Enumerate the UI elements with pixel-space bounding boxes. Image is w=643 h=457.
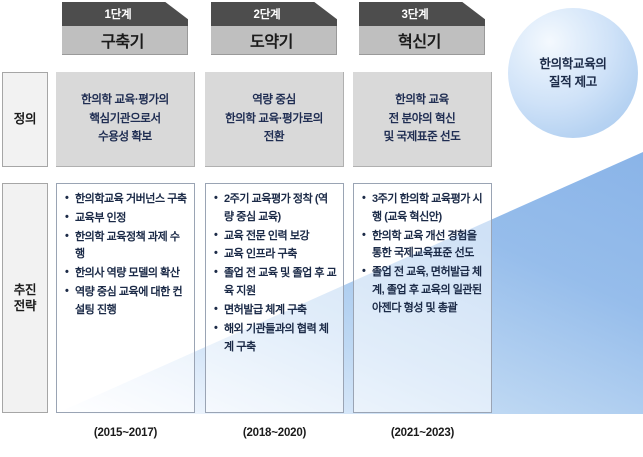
strategy-item: 한의학 교육 개선 경험을 통한 국제교육표준 선도: [361, 228, 485, 264]
strategy-box-3: 3주기 한의학 교육평가 시행 (교육 혁신안)한의학 교육 개선 경험을 통한…: [353, 183, 492, 413]
phase-header-3[interactable]: 3단계 혁신기: [359, 2, 485, 54]
phase-stage-label-1: 1단계: [105, 6, 132, 22]
phase-stage-band-1: 1단계: [62, 2, 188, 26]
row-label-definition-text: 정의: [14, 111, 36, 127]
definition-text-3: 한의학 교육 전 분야의 혁신 및 국제표준 선도: [384, 91, 461, 148]
phase-header-1[interactable]: 1단계 구축기: [62, 2, 188, 54]
strategy-box-2: 2주기 교육평가 정착 (역량 중심 교육)교육 전문 인력 보강교육 인프라 …: [205, 183, 344, 413]
phase-stage-label-2: 2단계: [254, 6, 281, 22]
strategy-item: 해외 기관들과의 협력 체계 구축: [213, 321, 337, 357]
definition-text-2: 역량 중심 한의학 교육·평가로의 전환: [225, 91, 323, 148]
strategy-item: 2주기 교육평가 정착 (역량 중심 교육): [213, 191, 337, 227]
definition-box-1: 한의학 교육·평가의 핵심기관으로서 수용성 확보: [56, 72, 195, 167]
phase-name-band-3: 혁신기: [359, 26, 485, 55]
strategy-item: 역량 중심 교육에 대한 컨설팅 진행: [64, 284, 188, 320]
strategy-item: 한의학 교육정책 과제 수행: [64, 229, 188, 265]
strategy-box-1: 한의학교육 거버넌스 구축교육부 인정한의학 교육정책 과제 수행한의사 역량 …: [56, 183, 195, 413]
definition-box-2: 역량 중심 한의학 교육·평가로의 전환: [205, 72, 344, 167]
phase-stage-label-3: 3단계: [402, 6, 429, 22]
phase-header-2[interactable]: 2단계 도약기: [211, 2, 337, 54]
strategy-list-3: 3주기 한의학 교육평가 시행 (교육 혁신안)한의학 교육 개선 경험을 통한…: [361, 191, 485, 318]
strategy-list-2: 2주기 교육평가 정착 (역량 중심 교육)교육 전문 인력 보강교육 인프라 …: [213, 191, 337, 356]
strategy-list-1: 한의학교육 거버넌스 구축교육부 인정한의학 교육정책 과제 수행한의사 역량 …: [64, 191, 188, 320]
row-label-definition: 정의: [2, 72, 48, 167]
row-label-strategy: 추진 전략: [2, 183, 48, 413]
strategy-item: 졸업 전 교육 및 졸업 후 교육 지원: [213, 265, 337, 301]
phase-name-label-2: 도약기: [250, 28, 293, 52]
strategy-item: 교육 인프라 구축: [213, 246, 337, 264]
strategy-item: 한의사 역량 모델의 확산: [64, 265, 188, 283]
roadmap-canvas: 한의학교육의 질적 제고 1단계 구축기 2단계 도약기 3단계 혁신기 정의 …: [0, 0, 643, 457]
phase-name-label-1: 구축기: [101, 28, 144, 52]
phase-name-label-3: 혁신기: [398, 28, 441, 52]
strategy-item: 졸업 전 교육, 면허발급 체계, 졸업 후 교육의 일관된 아젠다 형성 및 …: [361, 264, 485, 317]
strategy-item: 교육 전문 인력 보강: [213, 228, 337, 246]
goal-circle-label: 한의학교육의 질적 제고: [539, 55, 606, 91]
period-caption-3: (2021~2023): [353, 427, 492, 439]
phase-stage-band-3: 3단계: [359, 2, 485, 26]
strategy-item: 한의학교육 거버넌스 구축: [64, 191, 188, 209]
phase-name-band-1: 구축기: [62, 26, 188, 55]
strategy-item: 면허발급 체계 구축: [213, 302, 337, 320]
phase-name-band-2: 도약기: [211, 26, 337, 55]
period-caption-2: (2018~2020): [205, 427, 344, 439]
definition-box-3: 한의학 교육 전 분야의 혁신 및 국제표준 선도: [353, 72, 492, 167]
phase-stage-band-2: 2단계: [211, 2, 337, 26]
definition-text-1: 한의학 교육·평가의 핵심기관으로서 수용성 확보: [81, 91, 169, 148]
period-caption-1: (2015~2017): [56, 427, 195, 439]
strategy-item: 3주기 한의학 교육평가 시행 (교육 혁신안): [361, 191, 485, 227]
strategy-item: 교육부 인정: [64, 210, 188, 228]
goal-circle: 한의학교육의 질적 제고: [508, 8, 638, 138]
row-label-strategy-text: 추진 전략: [14, 282, 36, 315]
